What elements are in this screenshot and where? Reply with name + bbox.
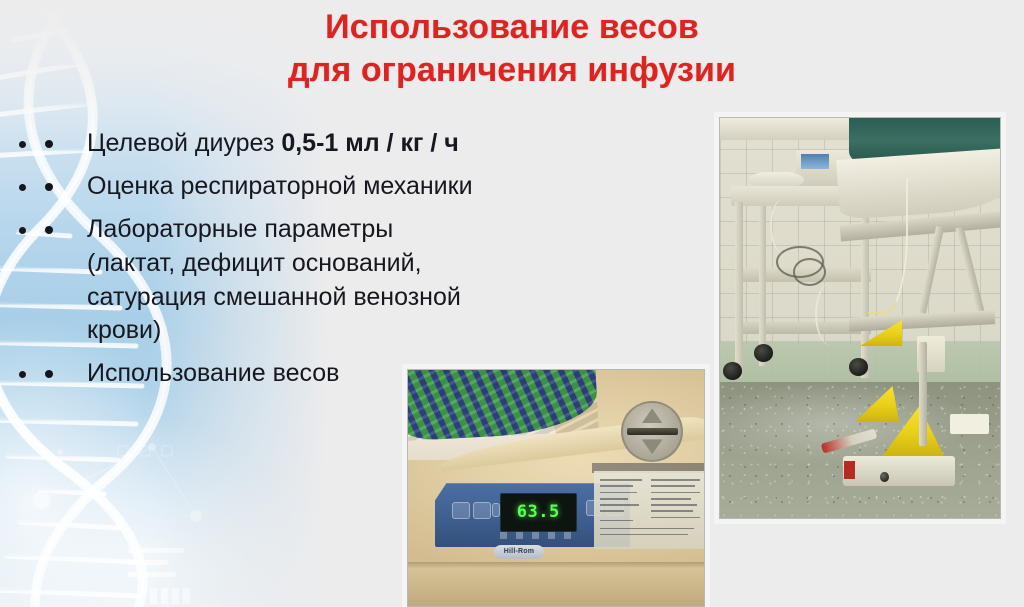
bed-down-button[interactable] (473, 502, 491, 519)
dna-network-nodes (33, 443, 202, 522)
label-line (600, 510, 624, 512)
bed-height-dial[interactable] (621, 401, 683, 462)
slide-canvas: Использование весов для ограничения инфу… (0, 0, 1024, 607)
bullet-dot-icon (45, 140, 53, 148)
cable-hanging-mid (815, 282, 849, 346)
label-line (651, 498, 690, 500)
patient-blanket (407, 369, 599, 441)
bullet-text: Оценка респираторной механики (87, 172, 473, 200)
label-line (651, 517, 699, 519)
cable-loop-lower (793, 258, 827, 286)
display-legend-ticks (500, 532, 577, 539)
ceiling-unit (720, 118, 854, 140)
label-line (651, 504, 697, 506)
bullet-dot-icon (45, 183, 53, 191)
scale-red-marker (844, 461, 855, 479)
bullet-item-laboratory-parameters: Лабораторные параметры (лактат, дефицит … (40, 213, 600, 349)
dial-up-arrow-icon (642, 408, 663, 423)
bullet-dot-icon (45, 370, 53, 378)
label-line (600, 479, 642, 481)
bed-control-panel-photo: 63.5 Hill-Rom (407, 369, 705, 607)
cart-leg-front-left (735, 202, 742, 378)
label-line (600, 498, 628, 500)
room-floor (720, 382, 1000, 518)
bullet-text: Лабораторные параметры (87, 215, 393, 243)
floor-scale-base (843, 456, 955, 486)
label-line (600, 534, 688, 536)
cart-leg-rear-left (759, 206, 766, 366)
bullet-dot-icon (45, 226, 53, 234)
label-line (600, 485, 633, 487)
unit-toggle-button[interactable] (492, 503, 499, 517)
bullet-item-target-diuresis: Целевой диурез 0,5-1 мл / кг / ч (40, 127, 600, 161)
slide-title-line-2: для ограничения инфузии (0, 49, 1024, 92)
dial-down-arrow-icon (642, 439, 663, 454)
hill-rom-brand-badge: Hill-Rom (494, 545, 544, 559)
bullet-subline: сатурация смешанной венозной (87, 281, 600, 315)
weight-display-value: 63.5 (517, 504, 560, 521)
instruction-label-block (594, 471, 704, 549)
scale-column-post (919, 342, 927, 446)
bullet-subline: крови) (87, 314, 600, 348)
label-line (600, 504, 639, 506)
label-line (600, 492, 637, 494)
label-line (651, 510, 693, 512)
bed-up-button[interactable] (452, 502, 470, 519)
bullet-text-emphasis: 0,5-1 мл / кг / ч (281, 129, 458, 157)
bullet-list: Целевой диурез 0,5-1 мл / кг / ч Оценка … (40, 127, 600, 400)
label-line (600, 520, 633, 522)
monitor-screen (801, 154, 829, 169)
label-line (651, 485, 695, 487)
label-line (651, 492, 699, 494)
cart-caster-left (754, 344, 774, 362)
dial-center-band (627, 428, 678, 435)
bed-base-strip (408, 568, 704, 606)
bullet-text: Целевой диурез (87, 129, 281, 157)
scale-knob (880, 472, 889, 483)
bullet-item-respiratory-mechanics: Оценка респираторной механики (40, 170, 600, 204)
label-line (651, 479, 699, 481)
label-line (600, 528, 694, 530)
slide-title-line-1: Использование весов (0, 6, 1024, 49)
room-scene (720, 118, 1000, 518)
slide-title: Использование весов для ограничения инфу… (0, 6, 1024, 92)
bullet-subline: (лактат, дефицит оснований, (87, 247, 600, 281)
weight-display: 63.5 (500, 493, 577, 532)
dna-data-panel-hint (128, 548, 190, 604)
bullet-text: Использование весов (87, 359, 339, 387)
bed-side-label (950, 414, 989, 434)
hospital-room-photo (719, 117, 1001, 519)
